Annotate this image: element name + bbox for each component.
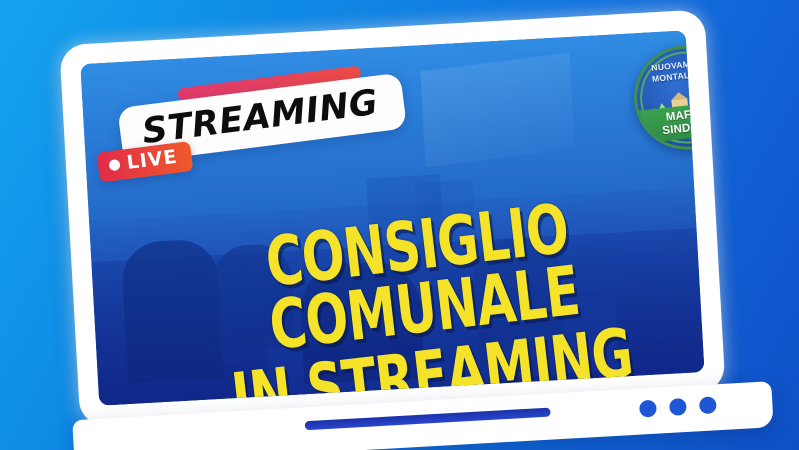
laptop-illustration: STREAMING LIVE CONSIGLIO COMUNALE IN STR… xyxy=(51,0,773,450)
laptop-screen-bezel: STREAMING LIVE CONSIGLIO COMUNALE IN STR… xyxy=(59,9,725,426)
laptop-screen: STREAMING LIVE CONSIGLIO COMUNALE IN STR… xyxy=(80,30,704,405)
laptop-indicator-dots xyxy=(639,396,717,417)
indicator-dot-1 xyxy=(639,400,657,418)
live-badge-label: LIVE xyxy=(126,148,179,173)
promo-banner: STREAMING LIVE CONSIGLIO COMUNALE IN STR… xyxy=(0,0,799,450)
indicator-dot-3 xyxy=(699,396,717,414)
laptop-hinge xyxy=(305,408,551,431)
indicator-dot-2 xyxy=(669,398,687,416)
live-dot-icon xyxy=(108,159,120,171)
